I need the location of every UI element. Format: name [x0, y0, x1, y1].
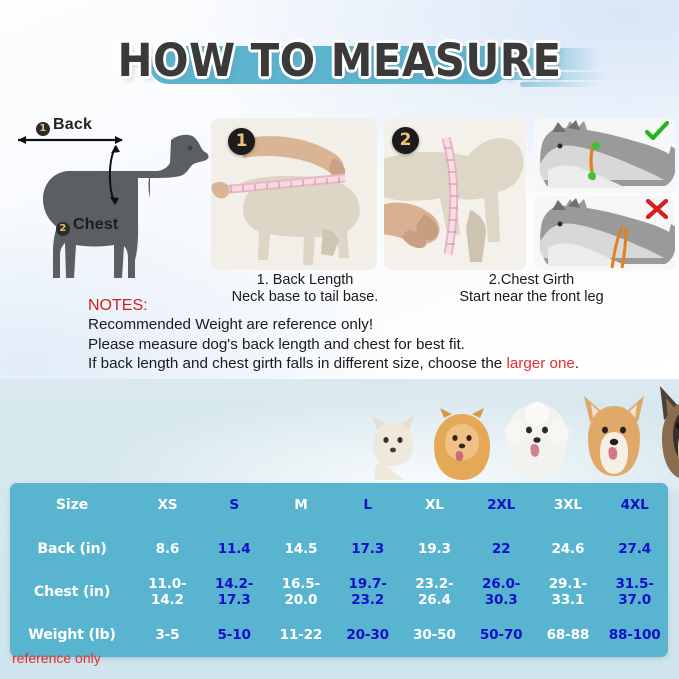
chest-l: 19.7-23.2	[334, 576, 401, 608]
notes-line-3-a: If back length and chest girth falls in …	[88, 355, 506, 372]
dog-photo-corgi	[576, 392, 652, 484]
cross-mark-icon	[645, 199, 669, 219]
size-m: M	[268, 497, 335, 513]
notes-line-3: If back length and chest girth falls in …	[88, 354, 648, 374]
weight-xs: 3-5	[134, 627, 201, 643]
check-mark-icon	[645, 121, 669, 141]
chest-2xl: 26.0-30.3	[468, 576, 535, 608]
chest-measure-label: 2Chest	[56, 216, 118, 236]
dog-photo-pomeranian	[428, 406, 496, 484]
table-row-back: Back (in) 8.6 11.4 14.5 17.3 19.3 22 24.…	[10, 527, 668, 571]
title-area: HOW TO MEASURE	[0, 34, 679, 100]
weight-m: 11-22	[268, 627, 335, 643]
chest-s: 14.2-17.3	[201, 576, 268, 608]
dog-photo-bichon	[500, 398, 574, 484]
dog-photo-chihuahua	[362, 410, 424, 484]
dog-photo-german-shepherd	[652, 384, 679, 484]
back-s: 11.4	[201, 541, 268, 557]
row-label-size: Size	[10, 497, 134, 513]
weight-l: 20-30	[334, 627, 401, 643]
page-title: HOW TO MEASURE	[24, 34, 655, 87]
table-row-weight: Weight (lb) 3-5 5-10 11-22 20-30 30-50 5…	[10, 613, 668, 657]
notes-line-1: Recommended Weight are reference only!	[88, 315, 648, 335]
row-label-back: Back (in)	[10, 541, 134, 557]
chest-xl: 23.2-26.4	[401, 576, 468, 608]
notes-line-2: Please measure dog's back length and che…	[88, 335, 648, 355]
size-2xl: 2XL	[468, 497, 535, 513]
table-row-size: Size XS S M L XL 2XL 3XL 4XL	[10, 483, 668, 527]
back-l: 17.3	[334, 541, 401, 557]
table-row-chest: Chest (in) 11.0-14.2 14.2-17.3 16.5-20.0…	[10, 571, 668, 613]
chest-4xl: 31.5-37.0	[601, 576, 668, 608]
panel-2-badge: 2	[392, 127, 419, 154]
dog-size-photo-strip	[348, 384, 679, 484]
notes-line-3-highlight: larger one	[506, 355, 574, 372]
size-l: L	[334, 497, 401, 513]
weight-4xl: 88-100	[601, 627, 668, 643]
back-xs: 8.6	[134, 541, 201, 557]
caption-1-line-1: 1. Back Length	[210, 272, 400, 289]
size-4xl: 4XL	[601, 497, 668, 513]
back-label-text: Back	[53, 116, 92, 133]
size-3xl: 3XL	[535, 497, 602, 513]
weight-2xl: 50-70	[468, 627, 535, 643]
chest-m: 16.5-20.0	[268, 576, 335, 608]
back-measure-label: 1Back	[36, 116, 92, 136]
back-xl: 19.3	[401, 541, 468, 557]
notes-line-3-c: .	[575, 355, 579, 372]
badge-1-icon: 1	[36, 122, 50, 136]
notes-heading: NOTES:	[88, 296, 648, 315]
badge-2-icon: 2	[56, 222, 70, 236]
size-table: Size XS S M L XL 2XL 3XL 4XL Back (in) 8…	[10, 483, 668, 657]
panel-1-badge: 1	[228, 128, 255, 155]
back-2xl: 22	[468, 541, 535, 557]
chest-xs: 11.0-14.2	[134, 576, 201, 608]
table-footnote: reference only	[12, 650, 101, 666]
caption-2-line-1: 2.Chest Girth	[424, 272, 639, 289]
dog-silhouette-diagram: 1Back 2Chest	[4, 112, 210, 280]
size-chart-infographic: HOW TO MEASURE 1Back 2Chest	[0, 0, 679, 679]
row-label-chest: Chest (in)	[10, 584, 134, 600]
back-4xl: 27.4	[601, 541, 668, 557]
back-3xl: 24.6	[535, 541, 602, 557]
back-m: 14.5	[268, 541, 335, 557]
row-label-weight: Weight (lb)	[10, 627, 134, 643]
size-s: S	[201, 497, 268, 513]
chest-3xl: 29.1-33.1	[535, 576, 602, 608]
weight-s: 5-10	[201, 627, 268, 643]
measurement-arrows	[4, 112, 210, 280]
size-xs: XS	[134, 497, 201, 513]
chest-label-text: Chest	[73, 216, 118, 233]
weight-xl: 30-50	[401, 627, 468, 643]
weight-3xl: 68-88	[535, 627, 602, 643]
notes-block: NOTES: Recommended Weight are reference …	[88, 296, 648, 374]
size-xl: XL	[401, 497, 468, 513]
